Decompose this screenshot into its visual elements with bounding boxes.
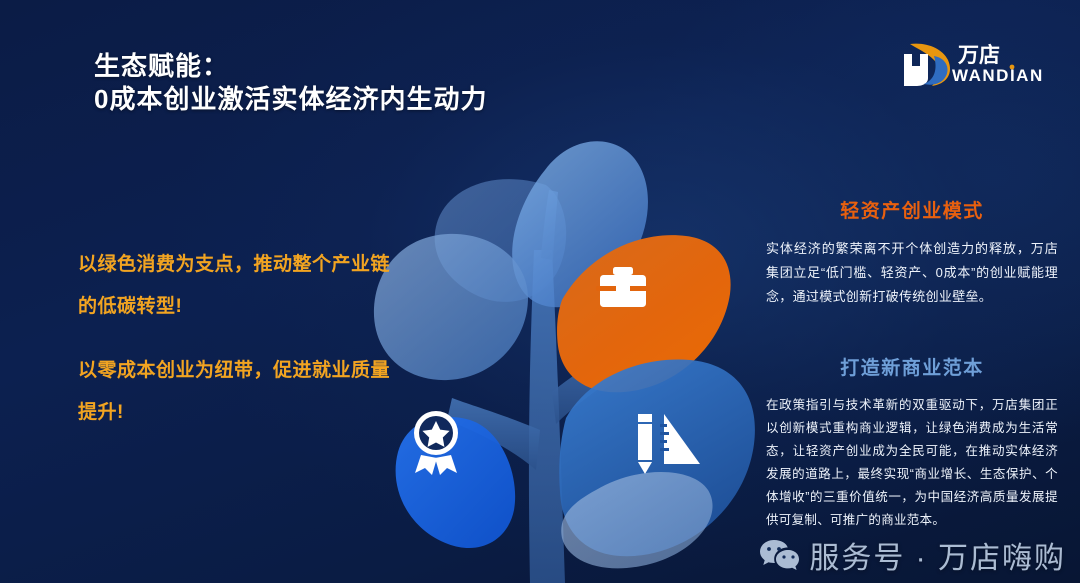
logo-latin-name: WANDIAN bbox=[952, 66, 1044, 85]
left-highlight-text: 以绿色消费为支点，推动整个产业链的低碳转型! 以零成本创业为纽带，促进就业质量提… bbox=[78, 244, 408, 434]
title-line-2: 0成本创业激活实体经济内生动力 bbox=[94, 83, 487, 116]
wechat-watermark: 服务号 · 万店嗨购 bbox=[759, 533, 1066, 577]
right-block-1-heading: 轻资产创业模式 bbox=[766, 196, 1058, 223]
wechat-icon bbox=[759, 538, 799, 572]
page-title: 生态赋能： 0成本创业激活实体经济内生动力 bbox=[94, 50, 487, 116]
wandian-logo-mark bbox=[904, 44, 950, 86]
slide-canvas: 生态赋能： 0成本创业激活实体经济内生动力 万店 WANDIAN 以绿色消费为支… bbox=[0, 0, 1080, 583]
right-block-1-body: 实体经济的繁荣离不开个体创造力的释放，万店集团立足“低门槛、轻资产、0成本”的创… bbox=[766, 237, 1058, 309]
right-block-2-body: 在政策指引与技术革新的双重驱动下，万店集团正以创新模式重构商业逻辑，让绿色消费成… bbox=[766, 394, 1058, 532]
title-line-1: 生态赋能： bbox=[94, 50, 487, 83]
right-content-column: 轻资产创业模式 实体经济的繁荣离不开个体创造力的释放，万店集团立足“低门槛、轻资… bbox=[766, 196, 1058, 532]
right-block-2: 打造新商业范本 在政策指引与技术革新的双重驱动下，万店集团正以创新模式重构商业逻… bbox=[766, 353, 1058, 532]
brand-logo[interactable]: 万店 WANDIAN bbox=[890, 34, 1058, 94]
logo-chinese-name: 万店 bbox=[957, 43, 1000, 67]
watermark-text: 服务号 · 万店嗨购 bbox=[809, 533, 1066, 577]
gold-paragraph-2: 以零成本创业为纽带，促进就业质量提升! bbox=[78, 350, 408, 434]
gold-paragraph-1: 以绿色消费为支点，推动整个产业链的低碳转型! bbox=[78, 244, 408, 328]
right-block-1: 轻资产创业模式 实体经济的繁荣离不开个体创造力的释放，万店集团立足“低门槛、轻资… bbox=[766, 196, 1058, 309]
logo-dot bbox=[1010, 65, 1015, 70]
right-block-2-heading: 打造新商业范本 bbox=[766, 353, 1058, 380]
